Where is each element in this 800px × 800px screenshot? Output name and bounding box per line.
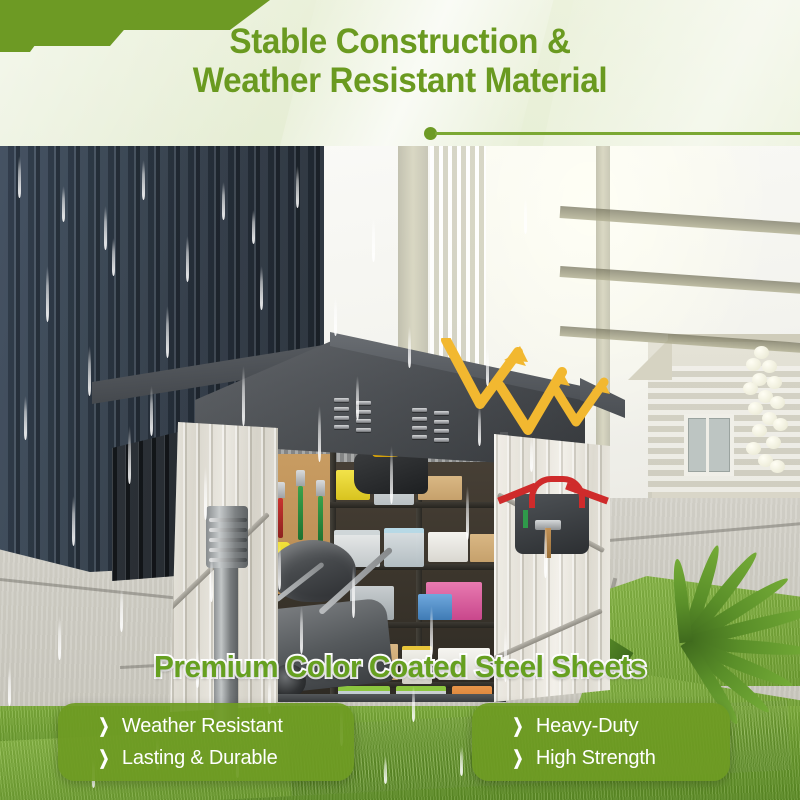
divider-rule — [435, 132, 800, 135]
plant-leaf — [671, 558, 693, 643]
screwdriver — [523, 510, 528, 528]
bollard-garden-light — [205, 506, 249, 721]
house-window — [684, 414, 734, 476]
leaf-blower — [354, 452, 428, 494]
bollard-post — [214, 562, 238, 722]
bollard-head — [206, 506, 248, 568]
product-feature-banner: Stable Construction & Weather Resistant … — [0, 0, 800, 800]
feature-item[interactable]: ❯ High Strength — [510, 745, 656, 771]
yucca-flower-spike — [740, 346, 786, 496]
feature-panel-left: ❯ Weather Resistant ❯ Lasting & Durable — [58, 703, 354, 781]
feature-item[interactable]: ❯ Lasting & Durable — [96, 745, 278, 771]
chevron-right-icon: ❯ — [98, 717, 109, 736]
tool-bag — [503, 476, 599, 560]
chevron-right-icon: ❯ — [98, 749, 109, 768]
feature-label: High Strength — [536, 747, 656, 770]
storage-bin-blue — [418, 594, 452, 620]
feature-label: Weather Resistant — [122, 715, 283, 738]
storage-bin — [428, 532, 468, 562]
feature-item[interactable]: ❯ Heavy-Duty — [510, 713, 638, 739]
door-threshold — [266, 694, 506, 702]
title-line-1: Stable Construction & — [20, 22, 780, 61]
chevron-right-icon: ❯ — [512, 749, 523, 768]
feature-label: Lasting & Durable — [122, 747, 278, 770]
title-divider — [424, 125, 800, 141]
header-band: Stable Construction & Weather Resistant … — [0, 0, 800, 146]
banner-headline: Premium Color Coated Steel Sheets — [16, 650, 784, 684]
feature-panel-right: ❯ Heavy-Duty ❯ High Strength — [472, 703, 730, 781]
page-title: Stable Construction & Weather Resistant … — [0, 22, 800, 100]
title-line-2: Weather Resistant Material — [20, 61, 780, 100]
feature-item[interactable]: ❯ Weather Resistant — [96, 713, 283, 739]
chevron-right-icon: ❯ — [512, 717, 523, 736]
water-deflection-arrows — [440, 338, 610, 438]
feature-label: Heavy-Duty — [536, 715, 638, 738]
product-photo — [0, 146, 800, 800]
hammer-handle — [545, 528, 551, 558]
